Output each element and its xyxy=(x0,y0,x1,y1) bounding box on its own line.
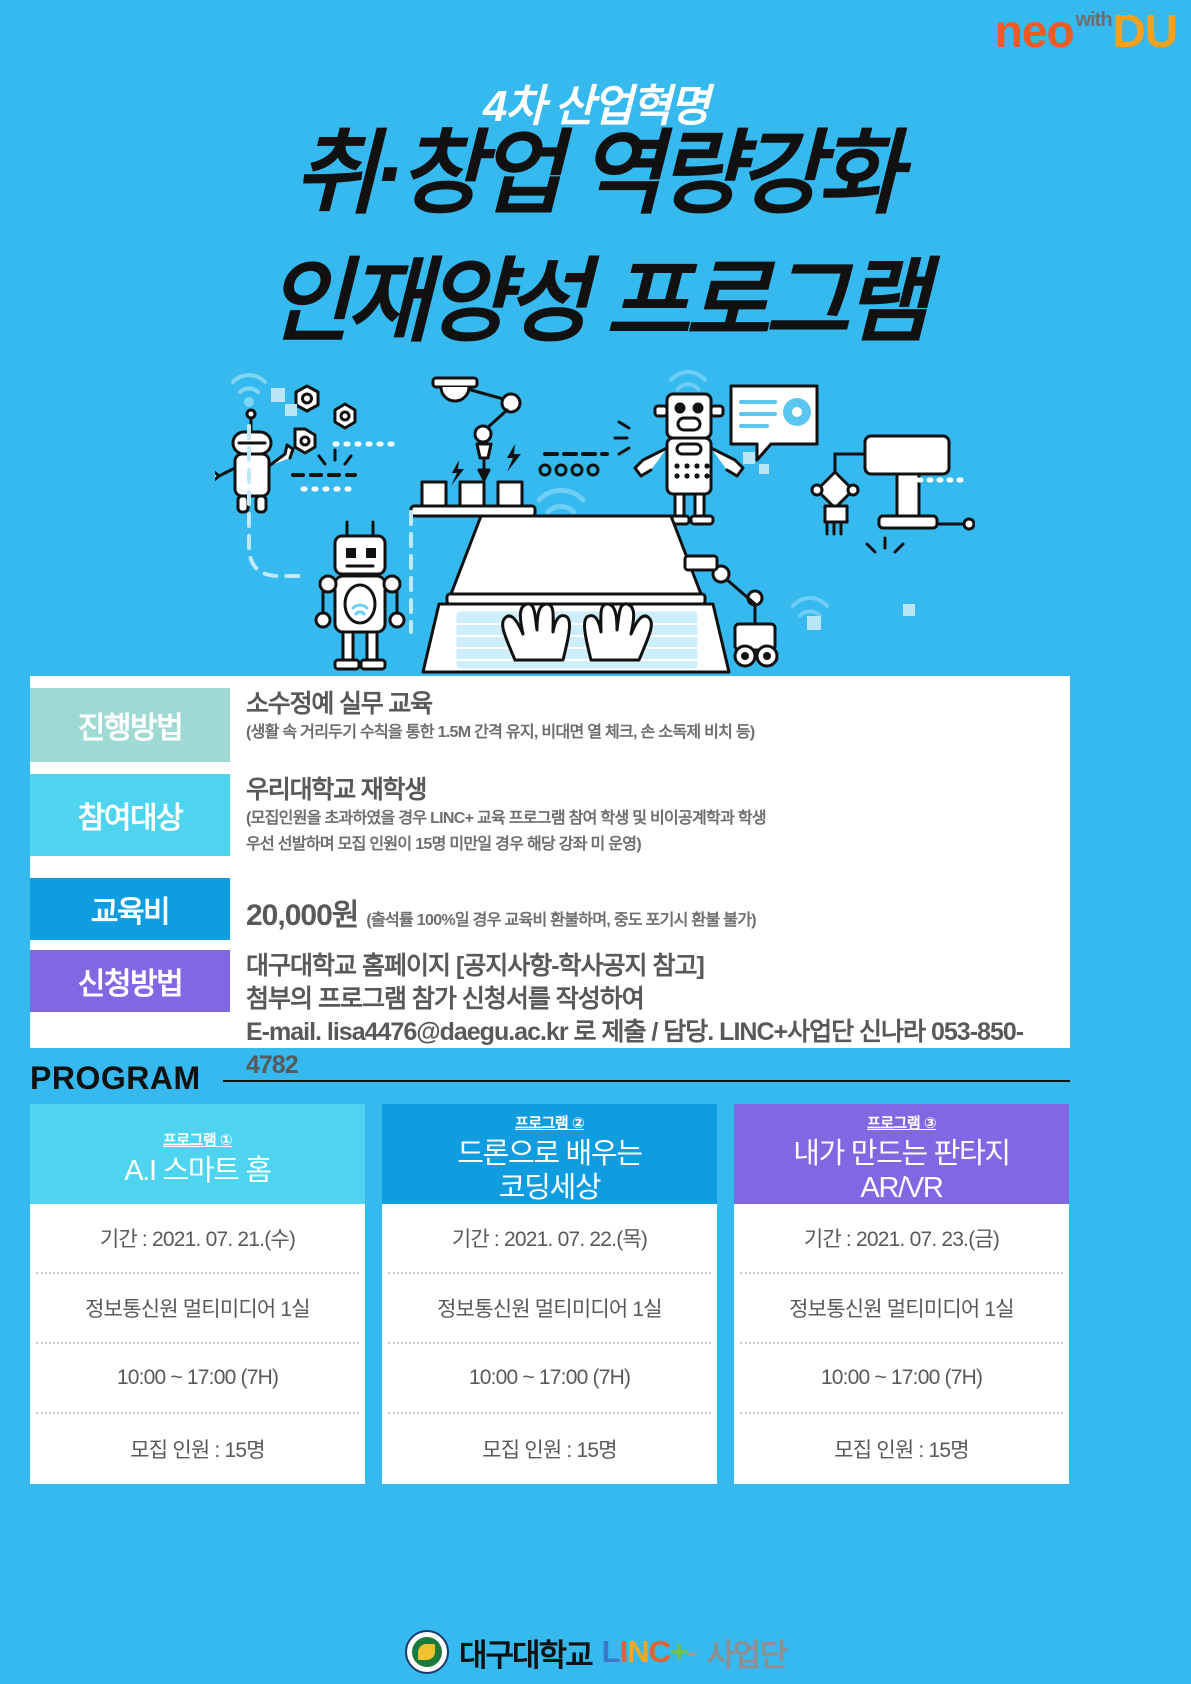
linc-letter-i: I xyxy=(620,1634,628,1670)
info-target-sub-1: (모집인원을 초과하였을 경우 LINC+ 교육 프로그램 참여 학생 및 비이… xyxy=(246,806,1070,832)
info-method-main: 소수정예 실무 교육 xyxy=(246,688,1070,720)
program-card-3-kicker: 프로그램 ③ xyxy=(867,1112,936,1133)
program-card-3-name-line2: AR/VR xyxy=(793,1171,1010,1205)
info-row-target: 참여대상 우리대학교 재학생 (모집인원을 초과하였을 경우 LINC+ 교육 … xyxy=(30,762,1070,868)
wifi-signal-icon xyxy=(233,375,265,405)
poster-title-line1: 취·창업 역량강화 xyxy=(0,126,1191,222)
info-panel: 진행방법 소수정예 실무 교육 (생활 속 거리두기 수칙을 통한 1.5M 간… xyxy=(30,676,1070,1048)
linc-letter-c: C xyxy=(649,1634,670,1670)
info-label-target: 참여대상 xyxy=(30,774,230,856)
info-method-sub: (생활 속 거리두기 수칙을 통한 1.5M 간격 유지, 비대면 열 체크, … xyxy=(246,720,1070,746)
robot-icon xyxy=(635,394,743,524)
footer-sadan-text: 사업단 xyxy=(706,1630,786,1675)
robot-arm-icon xyxy=(812,436,974,534)
info-fee-note: (출석률 100%일 경우 교육비 환불하며, 중도 포기시 환불 불가) xyxy=(366,906,756,930)
robot-icon xyxy=(316,522,404,669)
daegu-university-emblem-icon xyxy=(405,1630,449,1674)
horizontal-divider xyxy=(223,1080,1070,1082)
program-card-2-header: 프로그램 ② 드론으로 배우는 코딩세상 xyxy=(382,1104,717,1204)
linc-letter-n: N xyxy=(627,1634,648,1670)
info-fee-amount: 20,000원 xyxy=(246,890,358,934)
wifi-signal-icon xyxy=(671,372,705,389)
info-row-fee: 교육비 20,000원 (출석률 100%일 경우 교육비 환불하며, 중도 포… xyxy=(30,868,1070,942)
info-apply-line-2: 첨부의 프로그램 참가 신청서를 작성하여 xyxy=(246,983,1070,1016)
spark-icon xyxy=(319,450,351,464)
info-label-method: 진행방법 xyxy=(30,688,230,762)
program-card-2-name: 드론으로 배우는 코딩세상 xyxy=(457,1137,641,1205)
program-card-1-kicker: 프로그램 ① xyxy=(163,1129,232,1150)
info-target-sub-2: 우선 선발하며 모집 인원이 15명 미만일 경우 해당 강좌 미 운영) xyxy=(246,832,1070,858)
program-card-2-time: 10:00 ~ 17:00 (7H) xyxy=(388,1344,711,1414)
program-card-2-period: 기간 : 2021. 07. 22.(목) xyxy=(388,1204,711,1274)
brand-du-text: DU xyxy=(1113,8,1177,54)
program-card-1-header: 프로그램 ① A.I 스마트 홈 xyxy=(30,1104,365,1204)
wifi-signal-icon xyxy=(793,598,827,616)
circle-dots xyxy=(540,465,598,475)
program-card-3-name: 내가 만드는 판타지 AR/VR xyxy=(793,1137,1010,1205)
poster-title-line2: 인재양성 프로그램 xyxy=(0,254,1191,350)
poster-root: neo with DU 4차 산업혁명 취·창업 역량강화 인재양성 프로그램 xyxy=(0,0,1191,1684)
linc-letter-l: L xyxy=(602,1634,620,1670)
program-card-1[interactable]: 프로그램 ① A.I 스마트 홈 기간 : 2021. 07. 21.(수) 정… xyxy=(30,1104,365,1484)
linc-dash: - xyxy=(687,1634,696,1670)
linc-plus-sign: + xyxy=(670,1634,687,1670)
program-card-1-capacity: 모집 인원 : 15명 xyxy=(36,1414,359,1484)
program-card-2-location: 정보통신원 멀티미디어 1실 xyxy=(388,1274,711,1344)
brand-with-text: with xyxy=(1076,10,1112,30)
spark-icon xyxy=(867,538,903,552)
industry-4-illustration xyxy=(215,356,975,676)
linc-plus-logo: L I N C + - xyxy=(602,1634,697,1670)
program-card-1-time: 10:00 ~ 17:00 (7H) xyxy=(36,1344,359,1414)
info-label-fee: 교육비 xyxy=(30,878,230,940)
program-card-3-time: 10:00 ~ 17:00 (7H) xyxy=(740,1344,1063,1414)
laptop-with-hands-icon xyxy=(423,516,729,672)
program-card-3-header: 프로그램 ③ 내가 만드는 판타지 AR/VR xyxy=(734,1104,1069,1204)
info-row-method: 진행방법 소수정예 실무 교육 (생활 속 거리두기 수칙을 통한 1.5M 간… xyxy=(30,676,1070,762)
program-card-2-name-line1: 드론으로 배우는 xyxy=(457,1137,641,1171)
program-card-3-capacity: 모집 인원 : 15명 xyxy=(740,1414,1063,1484)
program-section-header: PROGRAM xyxy=(30,1060,1070,1097)
program-section-title: PROGRAM xyxy=(30,1060,201,1097)
robot-arm-icon xyxy=(433,378,520,480)
footer-logos: 대구대학교 L I N C + - 사업단 xyxy=(0,1620,1191,1684)
program-card-2-name-line2: 코딩세상 xyxy=(457,1171,641,1205)
program-card-2-capacity: 모집 인원 : 15명 xyxy=(388,1414,711,1484)
program-card-2[interactable]: 프로그램 ② 드론으로 배우는 코딩세상 기간 : 2021. 07. 22.(… xyxy=(382,1104,717,1484)
brand-neo-text: neo xyxy=(995,8,1074,54)
footer-university-name: 대구대학교 xyxy=(459,1630,592,1675)
robot-icon xyxy=(215,410,293,512)
info-apply-line-1: 대구대학교 홈페이지 [공지사항-학사공지 참고] xyxy=(246,950,1070,983)
program-card-1-name: A.I 스마트 홈 xyxy=(124,1154,271,1188)
conveyor-boxes-icon xyxy=(411,482,535,516)
program-card-3-location: 정보통신원 멀티미디어 1실 xyxy=(740,1274,1063,1344)
info-label-apply: 신청방법 xyxy=(30,950,230,1012)
program-card-3[interactable]: 프로그램 ③ 내가 만드는 판타지 AR/VR 기간 : 2021. 07. 2… xyxy=(734,1104,1069,1484)
dotted-connector-white xyxy=(303,444,395,489)
program-card-1-period: 기간 : 2021. 07. 21.(수) xyxy=(36,1204,359,1274)
speech-bubble-gear-icon xyxy=(731,386,817,460)
info-row-apply: 신청방법 대구대학교 홈페이지 [공지사항-학사공지 참고] 첨부의 프로그램 … xyxy=(30,942,1070,1042)
program-card-1-location: 정보통신원 멀티미디어 1실 xyxy=(36,1274,359,1344)
neo-with-du-logo: neo with DU xyxy=(995,8,1177,54)
program-card-list: 프로그램 ① A.I 스마트 홈 기간 : 2021. 07. 21.(수) 정… xyxy=(30,1104,1070,1484)
info-target-main: 우리대학교 재학생 xyxy=(246,774,1070,806)
dotted-connector-light xyxy=(249,426,411,632)
program-card-3-name-line1: 내가 만드는 판타지 xyxy=(793,1137,1010,1171)
spark-icon xyxy=(615,422,629,454)
program-card-2-kicker: 프로그램 ② xyxy=(515,1112,584,1133)
program-card-3-period: 기간 : 2021. 07. 23.(금) xyxy=(740,1204,1063,1274)
